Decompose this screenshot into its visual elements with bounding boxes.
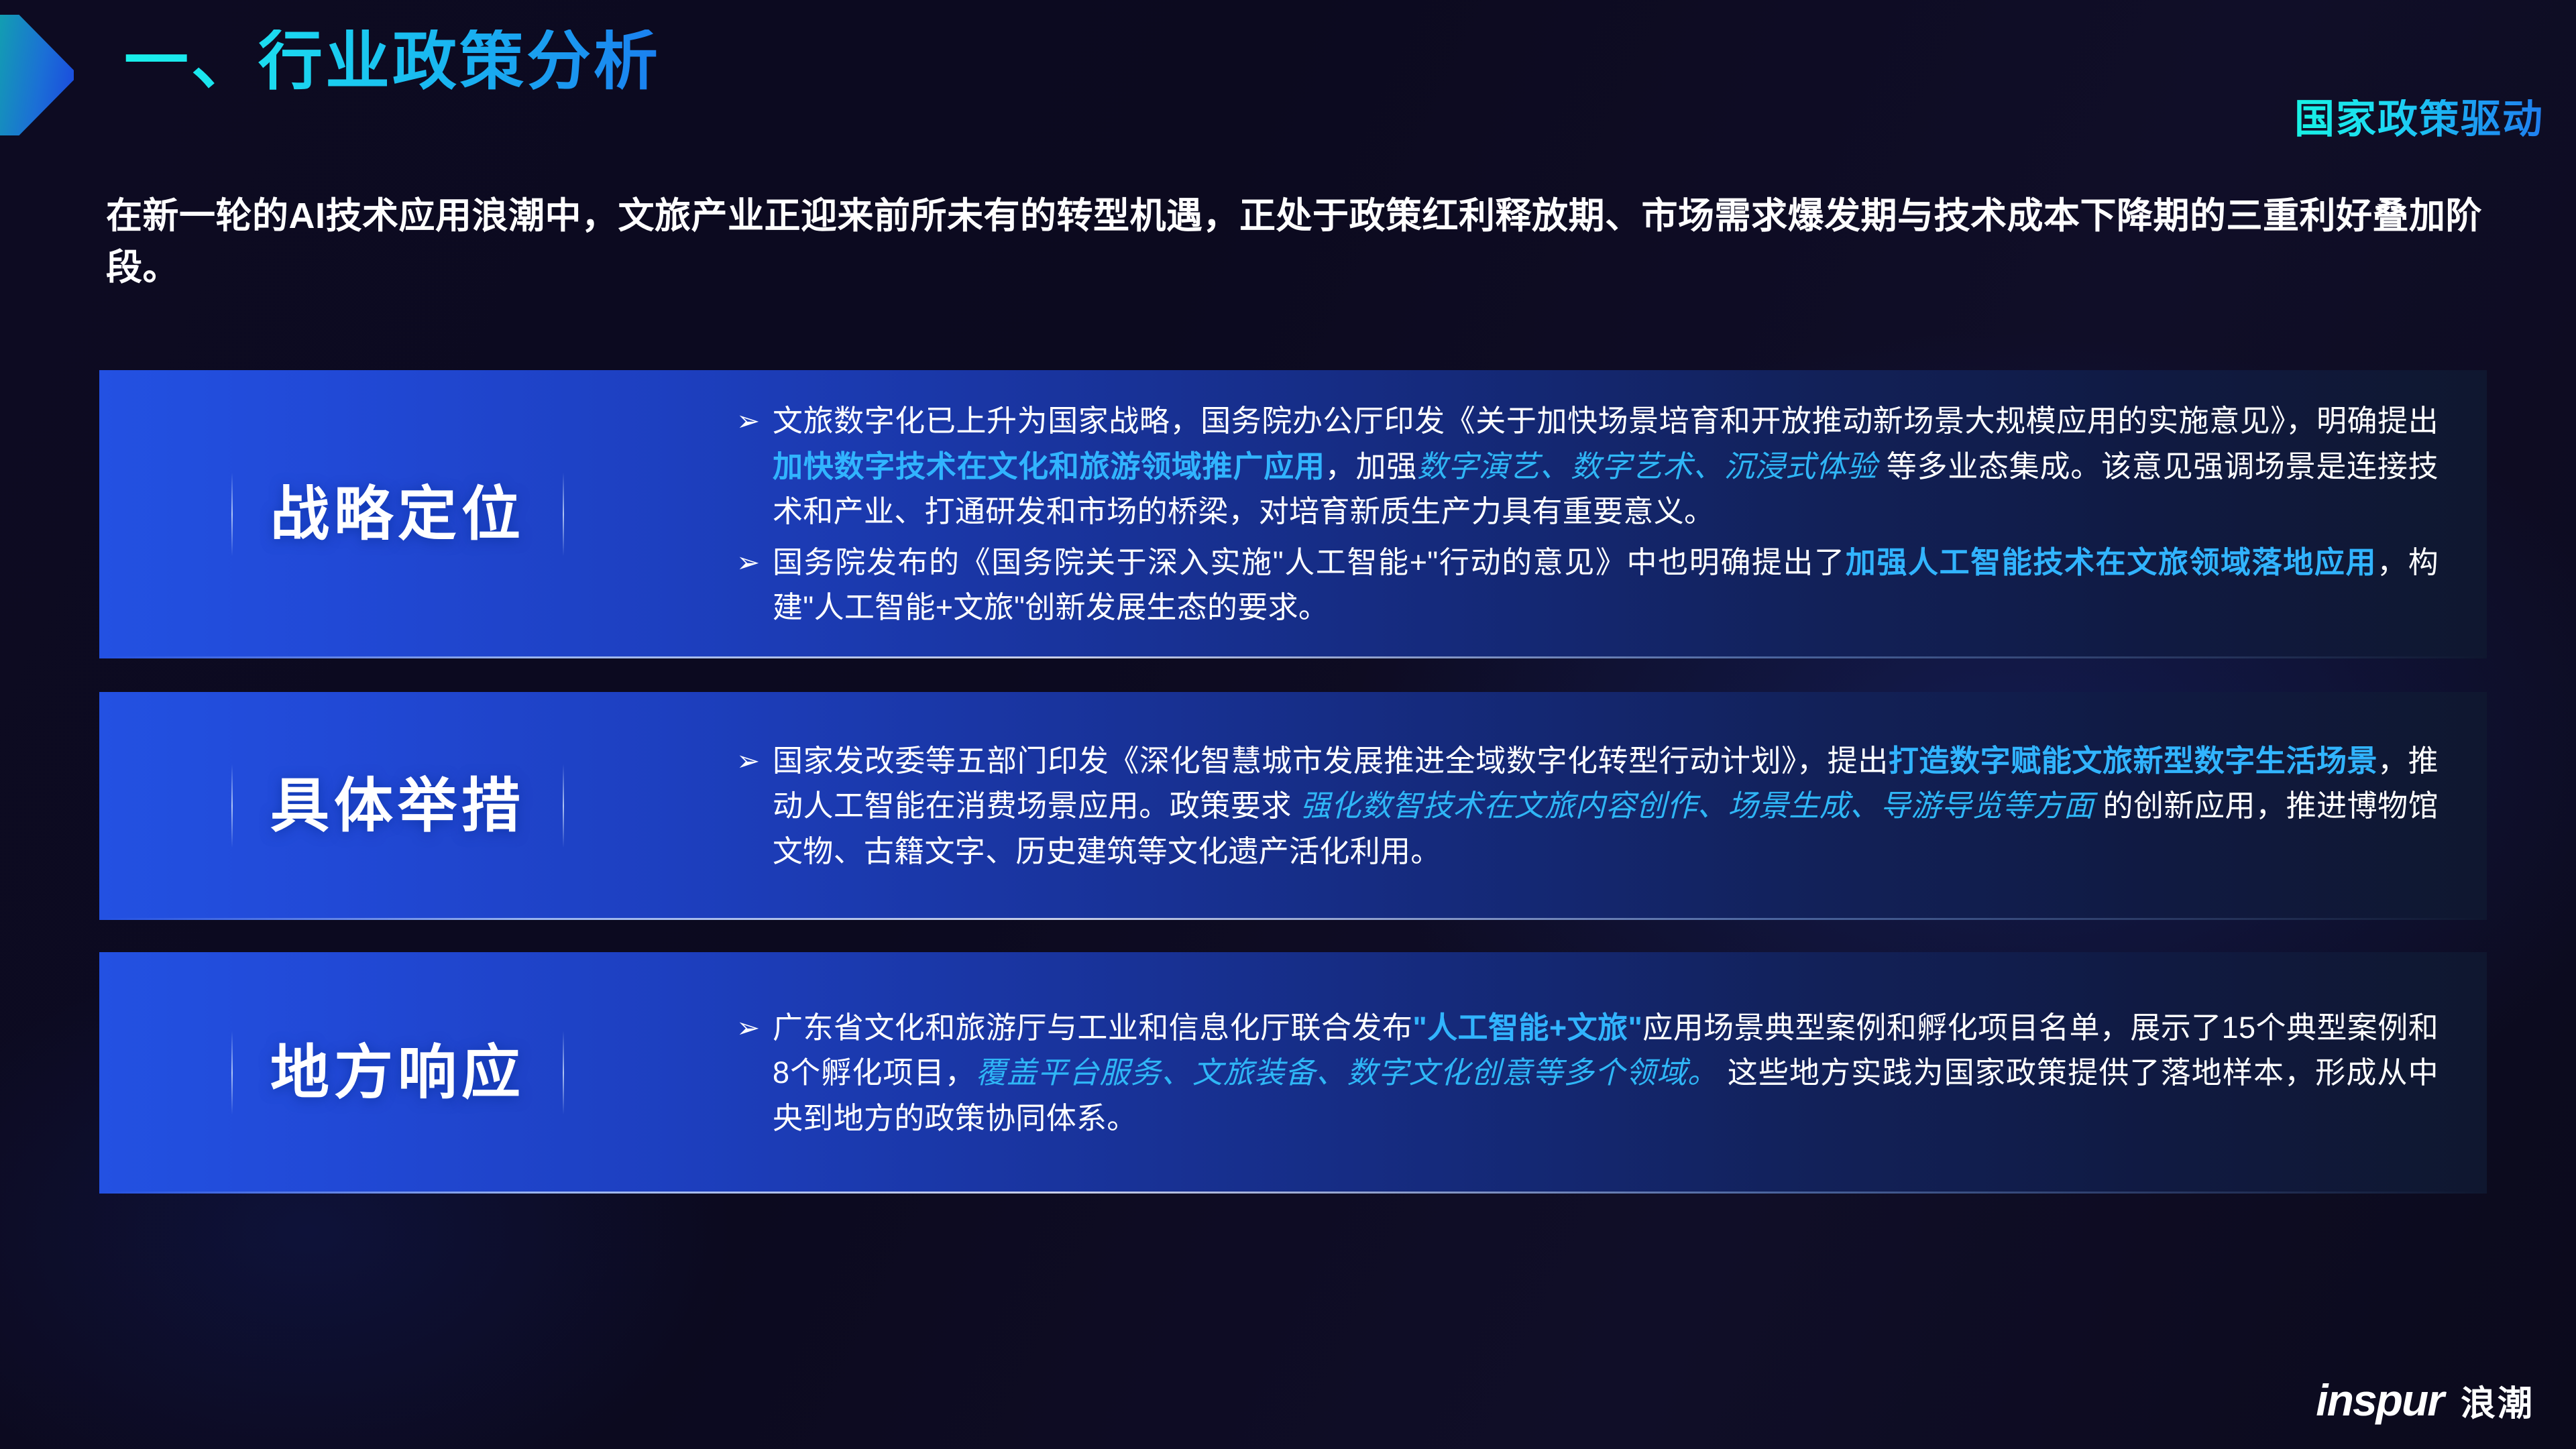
panel-bullets: ➢文旅数字化已上升为国家战略，国务院办公厅印发《关于加快场景培育和开放推动新场景… [736, 370, 2439, 658]
bullet-text: 国务院发布的《国务院关于深入实施"人工智能+"行动的意见》中也明确提出了 [773, 545, 1846, 579]
panel-bullets: ➢广东省文化和旅游厅与工业和信息化厅联合发布"人工智能+文旅"应用场景典型案例和… [736, 952, 2439, 1194]
bullet-arrow-icon: ➢ [736, 541, 761, 583]
bullet-item: ➢国家发改委等五部门印发《深化智慧城市发展推进全域数字化转型行动计划》，提出打造… [736, 738, 2439, 874]
brand-logo-cn: 浪潮 [2461, 1387, 2534, 1422]
bullet-item: ➢国务院发布的《国务院关于深入实施"人工智能+"行动的意见》中也明确提出了加强人… [736, 540, 2439, 630]
panel-bullets: ➢国家发改委等五部门印发《深化智慧城市发展推进全域数字化转型行动计划》，提出打造… [736, 692, 2439, 920]
bullet-arrow-icon: ➢ [736, 740, 761, 782]
bullet-text-highlight: 加强人工智能技术在文旅领域落地应用 [1846, 545, 2377, 579]
bullet-text-italic: 覆盖平台服务、文旅装备、数字文化创意等多个领域。 [976, 1055, 1718, 1090]
bullet-arrow-icon: ➢ [736, 400, 761, 442]
bullet-text: 广东省文化和旅游厅与工业和信息化厅联合发布 [773, 1010, 1412, 1045]
panel-label-text: 地方响应 [270, 1043, 525, 1102]
panel-label: 地方响应 [139, 952, 656, 1194]
bullet-text: ，加强 [1325, 449, 1417, 483]
page-title: 一、行业政策分析 [124, 30, 661, 94]
bullet-text: 文旅数字化已上升为国家战略，国务院办公厅印发《关于加快场景培育和开放推动新场景大… [773, 404, 2439, 438]
page-kicker: 国家政策驱动 [2294, 99, 2544, 139]
panel-label: 战略定位 [139, 370, 656, 658]
page-lede: 在新一轮的AI技术应用浪潮中，文旅产业正迎来前所未有的转型机遇，正处于政策红利释… [106, 190, 2494, 293]
bullet-text: 国家发改委等五部门印发《深化智慧城市发展推进全域数字化转型行动计划》，提出 [773, 744, 1889, 778]
panel-label-text: 战略定位 [270, 485, 525, 544]
bullet-text-highlight: 加快数字技术在文化和旅游领域推广应用 [773, 449, 1325, 483]
bullet-arrow-icon: ➢ [736, 1006, 761, 1049]
panel-label-text: 具体举措 [270, 776, 525, 835]
policy-panel: 地方响应 ➢广东省文化和旅游厅与工业和信息化厅联合发布"人工智能+文旅"应用场景… [99, 952, 2487, 1194]
policy-panel: 具体举措 ➢国家发改委等五部门印发《深化智慧城市发展推进全域数字化转型行动计划》… [99, 692, 2487, 920]
brand-logo-en: inspur [2316, 1378, 2443, 1422]
bullet-text-highlight: "人工智能+文旅" [1412, 1010, 1642, 1045]
bullet-text-highlight: 打造数字赋能文旅新型数字生活场景 [1889, 744, 2377, 778]
brand-logo: inspur 浪潮 [2316, 1378, 2534, 1422]
panel-label: 具体举措 [139, 692, 656, 920]
bullet-text-italic: 数字演艺、数字艺术、沉浸式体验 [1417, 449, 1877, 483]
policy-panel: 战略定位 ➢文旅数字化已上升为国家战略，国务院办公厅印发《关于加快场景培育和开放… [99, 370, 2487, 658]
corner-chevron-icon [0, 15, 74, 135]
bullet-item: ➢广东省文化和旅游厅与工业和信息化厅联合发布"人工智能+文旅"应用场景典型案例和… [736, 1005, 2439, 1141]
bullet-text-italic: 强化数智技术在文旅内容创作、场景生成、导游导览等方面 [1300, 789, 2094, 823]
bullet-item: ➢文旅数字化已上升为国家战略，国务院办公厅印发《关于加快场景培育和开放推动新场景… [736, 398, 2439, 534]
